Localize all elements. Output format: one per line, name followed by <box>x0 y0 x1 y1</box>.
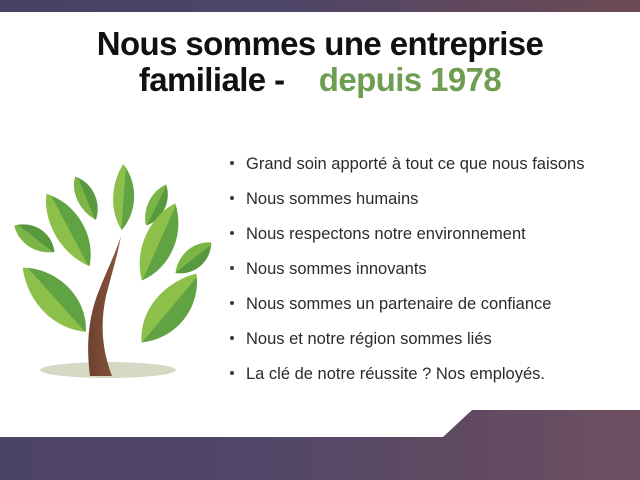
list-item-label: Nous sommes humains <box>246 190 418 208</box>
footer-shape-path <box>0 410 640 480</box>
top-accent-bar <box>0 0 640 12</box>
bullet-icon <box>230 196 234 200</box>
list-item-label: La clé de notre réussite ? Nos employés. <box>246 365 545 383</box>
bullet-icon <box>230 371 234 375</box>
bullet-icon <box>230 266 234 270</box>
list-item: Nous et notre région sommes liés <box>228 327 628 362</box>
bullet-icon <box>230 336 234 340</box>
bullet-icon <box>230 301 234 305</box>
list-item: Grand soin apporté à tout ce que nous fa… <box>228 152 628 187</box>
headline-line-2-main: familiale - <box>139 61 285 98</box>
list-item: Nous sommes innovants <box>228 257 628 292</box>
headline-accent-since: depuis 1978 <box>319 61 501 98</box>
headline-line-1: Nous sommes une entreprise <box>0 26 640 62</box>
page-title: Nous sommes une entreprise familiale - d… <box>0 26 640 97</box>
list-item-label: Nous sommes innovants <box>246 260 427 278</box>
list-item: Nous sommes un partenaire de confiance <box>228 292 628 327</box>
leaf-top-center <box>111 163 137 230</box>
tree-illustration <box>8 148 223 393</box>
leaf-far-right-small <box>169 236 219 281</box>
slide-canvas: Nous sommes une entreprise familiale - d… <box>0 0 640 480</box>
leaf-lower-right-big <box>129 264 212 354</box>
bullet-icon <box>230 231 234 235</box>
list-item: Nous sommes humains <box>228 187 628 222</box>
headline-line-2: familiale - depuis 1978 <box>0 62 640 98</box>
list-item-label: Grand soin apporté à tout ce que nous fa… <box>246 155 584 173</box>
list-item: Nous respectons notre environnement <box>228 222 628 257</box>
tree-trunk <box>88 236 121 376</box>
bullet-icon <box>230 161 234 165</box>
list-item-label: Nous et notre région sommes liés <box>246 330 492 348</box>
benefits-list: Grand soin apporté à tout ce que nous fa… <box>228 152 628 397</box>
list-item-label: Nous respectons notre environnement <box>246 225 526 243</box>
list-item-label: Nous sommes un partenaire de confiance <box>246 295 551 313</box>
footer-band: TABOR tabor-automobiles.fr <box>0 400 640 480</box>
leaf-lower-left-big <box>12 254 98 344</box>
list-item: La clé de notre réussite ? Nos employés. <box>228 362 628 397</box>
